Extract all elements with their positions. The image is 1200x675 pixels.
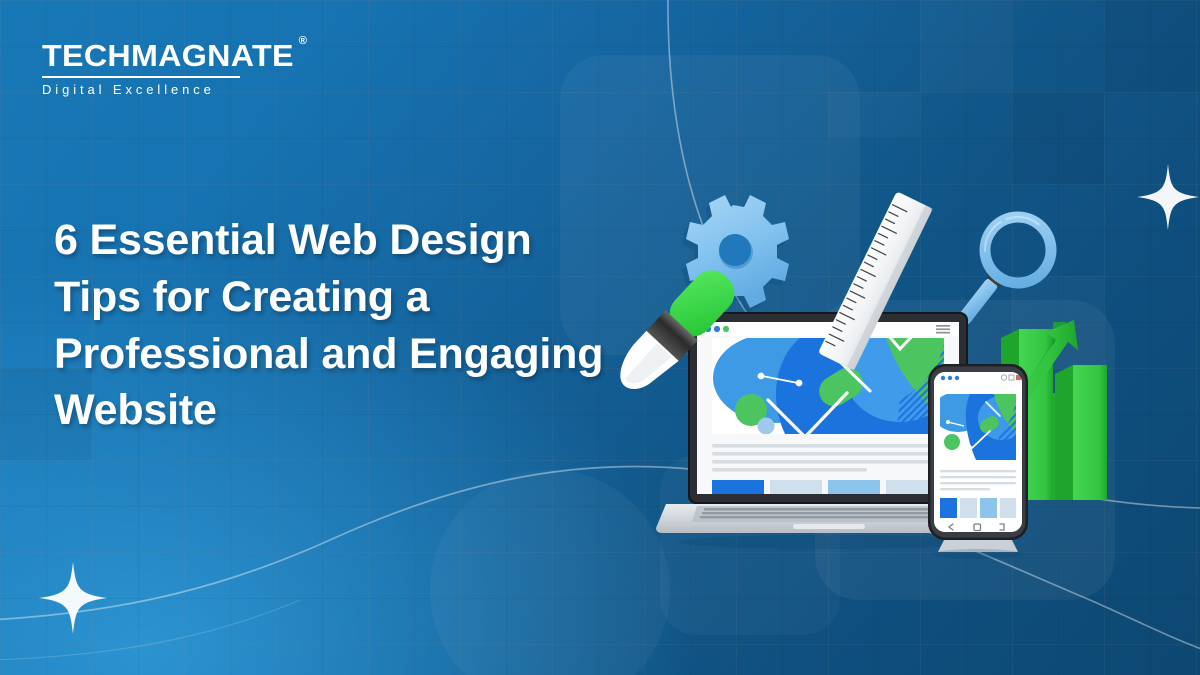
hero-illustration: [600, 150, 1200, 600]
color-swatch: [1000, 498, 1016, 518]
sparkle-icon: [39, 562, 107, 634]
logo-wordmark-text: TECHMAGNATE: [42, 38, 294, 73]
color-swatch: [980, 498, 997, 518]
smartphone-mockup: [928, 364, 1028, 559]
logo-tagline: Digital Excellence: [42, 82, 284, 97]
color-swatch: [960, 498, 977, 518]
grid-tile-shade: [920, 0, 1012, 92]
browser-dot: [941, 376, 945, 380]
registered-trademark-icon: ®: [299, 36, 308, 47]
browser-dot: [714, 326, 720, 332]
grid-tile-shade: [1104, 0, 1200, 92]
logo-divider: [42, 76, 240, 78]
browser-dot: [955, 376, 959, 380]
color-swatch: [940, 498, 957, 518]
logo-wordmark: TECHMAGNATE®: [42, 40, 294, 71]
blog-banner: TECHMAGNATE® Digital Excellence 6 Essent…: [0, 0, 1200, 675]
page-title: 6 Essential Web Design Tips for Creating…: [54, 212, 624, 439]
logo[interactable]: TECHMAGNATE® Digital Excellence: [42, 40, 284, 97]
laptop-trackpad: [793, 524, 865, 529]
browser-dot: [948, 376, 952, 380]
hamburger-menu-icon: [936, 325, 950, 334]
browser-dot: [723, 326, 729, 332]
chart-bar: [1055, 365, 1107, 500]
laptop-keyboard: [700, 508, 948, 518]
grid-tile-shade: [828, 92, 920, 138]
hero-illustration-svg: [600, 150, 1200, 600]
